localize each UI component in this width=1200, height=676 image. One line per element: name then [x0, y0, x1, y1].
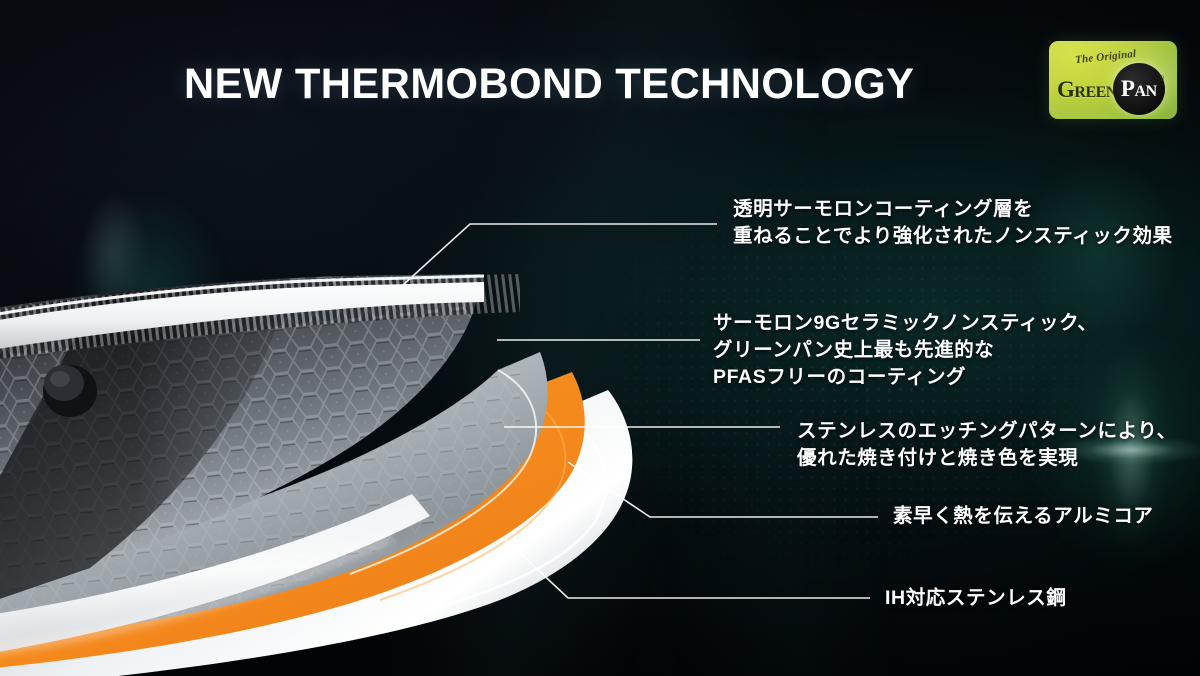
callout-line: 重ねることでより強化されたノンスティック効果 [733, 223, 1173, 250]
callout-thermolon-9g: サーモロン9Gセラミックノンスティック、 グリーンパン史上最も先進的な PFAS… [713, 310, 1098, 391]
slide-canvas: NEW THERMOBOND TECHNOLOGY The Original G… [0, 0, 1200, 676]
callout-induction-steel: IH対応ステンレス鋼 [885, 585, 1067, 612]
callout-line: サーモロン9Gセラミックノンスティック、 [713, 310, 1098, 337]
page-title: NEW THERMOBOND TECHNOLOGY [184, 60, 914, 109]
logo-word-green: Green [1057, 77, 1117, 103]
callout-line: 優れた焼き付けと焼き色を実現 [797, 445, 1177, 472]
callout-line: グリーンパン史上最も先進的な [713, 337, 1098, 364]
callout-line: ステンレスのエッチングパターンにより、 [797, 418, 1177, 445]
logo-word-pan: Pan [1121, 76, 1157, 102]
logo-trademark: ® [1158, 74, 1164, 83]
pan-layers-svg [0, 176, 720, 676]
callout-aluminium-core: 素早く熱を伝えるアルミコア [893, 503, 1154, 530]
callout-line: IH対応ステンレス鋼 [885, 585, 1067, 612]
logo-circle: Pan [1113, 63, 1165, 115]
callout-line: PFASフリーのコーティング [713, 364, 1098, 391]
callout-etched-stainless: ステンレスのエッチングパターンにより、 優れた焼き付けと焼き色を実現 [797, 418, 1177, 472]
pan-rivet [43, 365, 97, 417]
logo-wordmark: Green Pan [1057, 65, 1165, 115]
callout-line: 素早く熱を伝えるアルミコア [893, 503, 1154, 530]
callout-transparent-thermolon: 透明サーモロンコーティング層を 重ねることでより強化されたノンスティック効果 [733, 196, 1173, 250]
greenpan-logo: The Original Green Pan ® [1049, 41, 1177, 119]
callout-line: 透明サーモロンコーティング層を [733, 196, 1173, 223]
pan-cross-section-illustration [0, 176, 720, 676]
